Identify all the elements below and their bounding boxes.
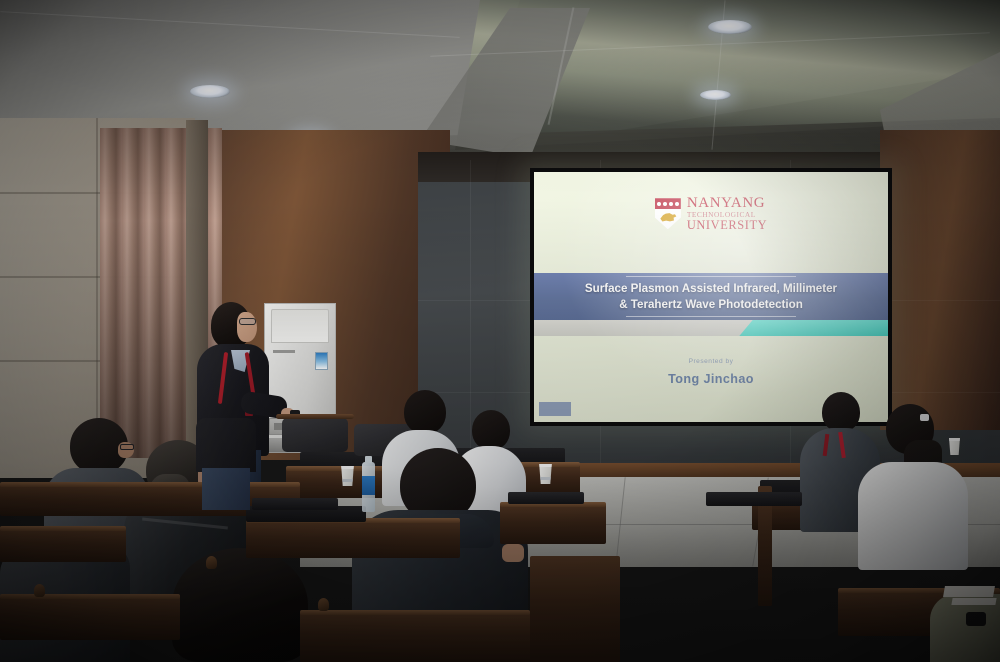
audience-head — [404, 390, 446, 434]
ntu-crest-icon — [655, 198, 681, 229]
downlight-icon — [190, 85, 230, 98]
paper-sheet — [951, 598, 996, 605]
laptop — [706, 492, 802, 506]
bench-top-rail — [0, 594, 180, 599]
downlight-icon — [700, 90, 731, 100]
bench-knob — [318, 598, 329, 611]
audience-head — [472, 410, 510, 450]
title-rule-bottom — [626, 316, 796, 317]
crest-lion-icon — [659, 212, 676, 223]
bench-top-rail — [300, 610, 530, 615]
chair-backrest — [282, 418, 348, 452]
laptop — [508, 492, 584, 504]
hair-clip — [920, 414, 929, 421]
slide-accent-gray — [534, 320, 768, 336]
bench-row — [0, 596, 180, 640]
bench-row — [246, 520, 460, 558]
rear-person-legs — [202, 468, 250, 510]
wall-wood-right — [880, 130, 1000, 430]
bench-knob — [206, 556, 217, 569]
slide-presenter-block: Presented by Tong Jinchao — [534, 358, 888, 386]
ac-energy-label — [315, 352, 328, 370]
bench-side-panel — [530, 556, 620, 662]
paper-sheet — [943, 586, 995, 597]
ntu-line-3: UNIVERSITY — [687, 219, 767, 232]
title-rule-top — [626, 276, 796, 277]
slide-title-line-2: & Terahertz Wave Photodetection — [585, 297, 837, 312]
crest-roses — [655, 199, 681, 209]
cup-band — [341, 479, 353, 482]
downlight-icon — [708, 20, 752, 34]
laptop — [252, 498, 338, 510]
lecture-hall-photo: NANYANG TECHNOLOGICAL UNIVERSITY Surface… — [0, 0, 1000, 662]
presenter-name: Tong Jinchao — [534, 372, 888, 386]
audience-hand — [502, 544, 524, 562]
slide-title-line-1: Surface Plasmon Assisted Infrared, Milli… — [585, 281, 837, 296]
cup-rim — [339, 466, 356, 469]
bottle-label — [362, 476, 375, 495]
cup-band — [539, 477, 551, 480]
glasses-icon — [239, 318, 256, 325]
rear-standing-person — [196, 418, 256, 508]
ntu-wordmark: NANYANG TECHNOLOGICAL UNIVERSITY — [687, 196, 767, 231]
phone-icon — [966, 612, 986, 626]
audience-head — [172, 548, 308, 662]
slide-title-band: Surface Plasmon Assisted Infrared, Milli… — [534, 273, 888, 320]
projection-screen: NANYANG TECHNOLOGICAL UNIVERSITY Surface… — [530, 168, 892, 426]
audience-person-right-front — [858, 404, 968, 574]
chair-frame — [276, 414, 354, 419]
presenter-face — [237, 312, 257, 342]
bench-knob — [34, 584, 45, 597]
presented-by-label: Presented by — [534, 358, 888, 365]
bench-row — [500, 504, 606, 544]
bench-row — [0, 528, 126, 562]
rear-person-torso — [196, 418, 256, 472]
bench-top-rail — [0, 526, 126, 531]
slide-footer-box — [539, 402, 571, 416]
cup-rim — [537, 464, 554, 467]
presentation-slide: NANYANG TECHNOLOGICAL UNIVERSITY Surface… — [534, 172, 888, 422]
bottle-cap — [365, 456, 372, 463]
bench-row — [300, 612, 530, 662]
audience-head — [822, 392, 860, 432]
slide-accent-teal — [739, 320, 888, 336]
water-bottle — [362, 462, 375, 512]
slide-title: Surface Plasmon Assisted Infrared, Milli… — [575, 281, 847, 312]
ntu-line-1: NANYANG — [687, 196, 767, 211]
ntu-logo: NANYANG TECHNOLOGICAL UNIVERSITY — [534, 196, 888, 231]
audience-torso-white-top — [858, 462, 968, 570]
